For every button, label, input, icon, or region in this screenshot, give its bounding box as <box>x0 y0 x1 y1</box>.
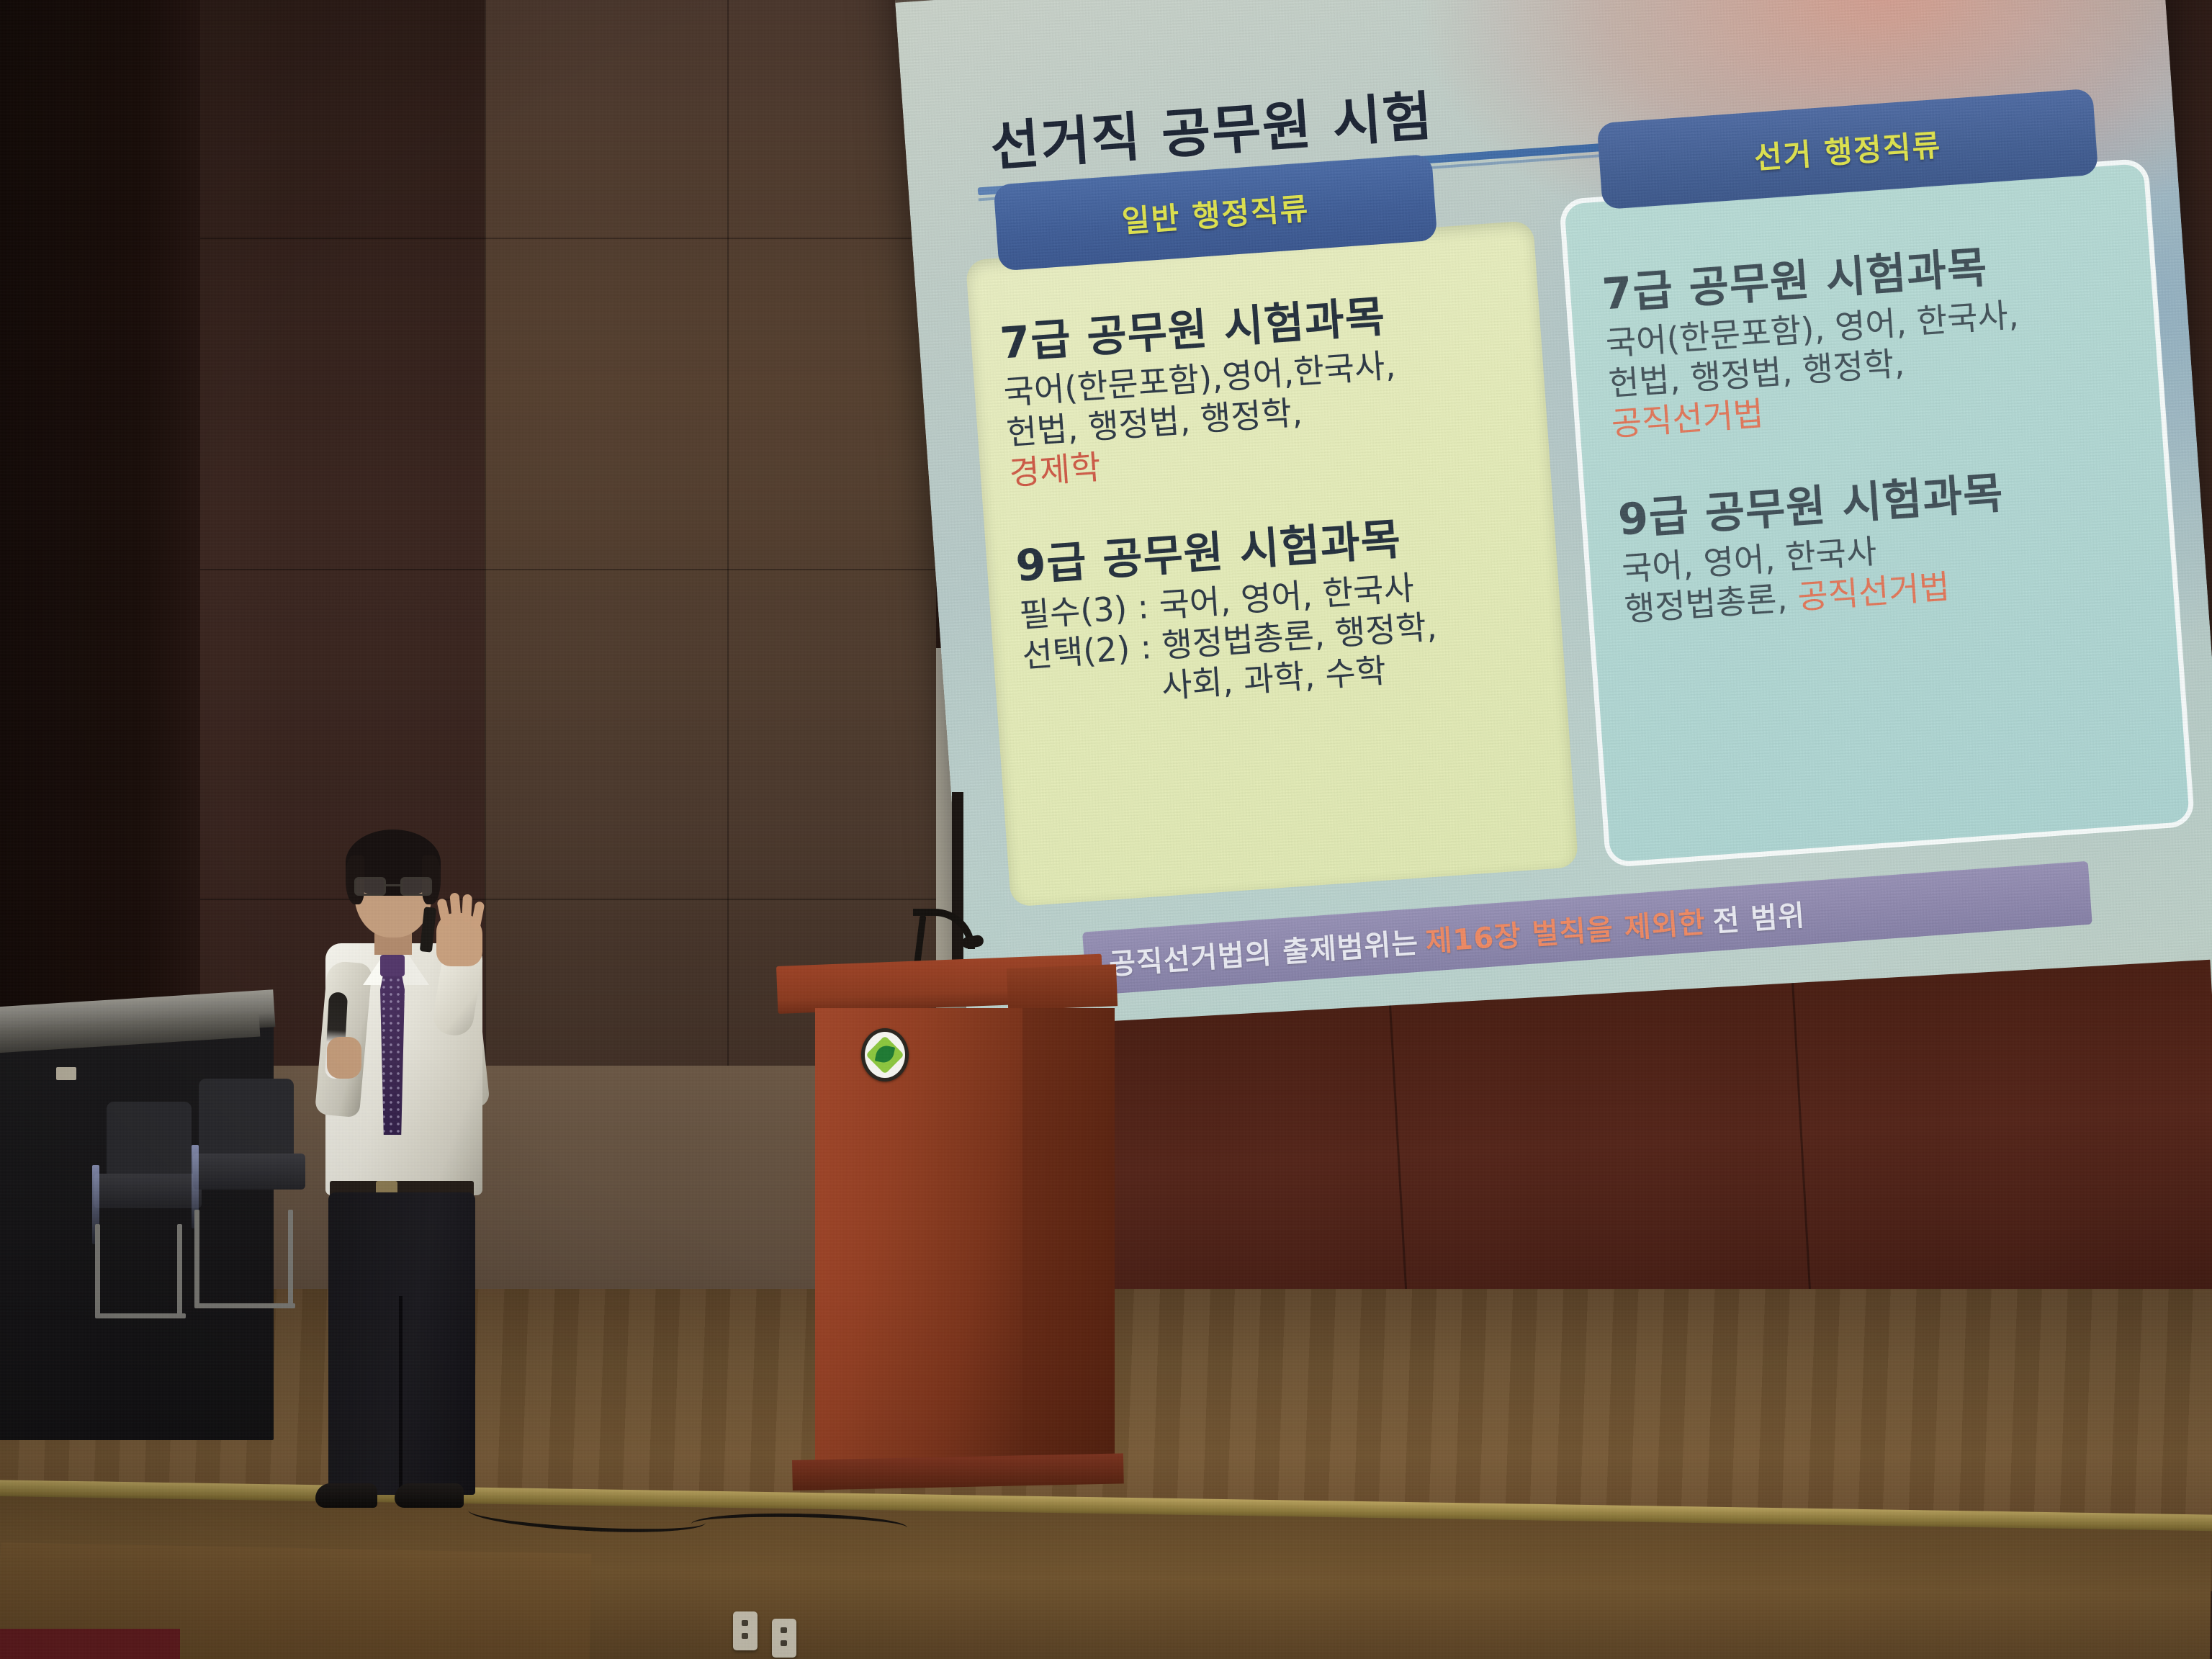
presenter-figure <box>288 821 526 1527</box>
podium-front-face <box>815 1008 1022 1469</box>
presenter-leg-seam <box>399 1296 403 1499</box>
glasses-icon <box>354 877 435 896</box>
podium-emblem-icon <box>861 1028 909 1082</box>
card-body-right: 7급 공무원 시험과목 국어(한문포함), 영어, 한국사, 헌법, 행정법, … <box>1564 163 2173 631</box>
presenter-finger <box>470 901 485 930</box>
chair-leg <box>177 1224 182 1318</box>
block-grade9-left: 9급 공무원 시험과목 필수(3) : 국어, 영어, 한국사 선택(2) : … <box>1015 505 1565 716</box>
chair-leg <box>95 1224 100 1318</box>
screen-support-post <box>952 792 963 979</box>
card-general-administration: 7급 공무원 시험과목 국어(한문포함),영어,한국사, 헌법, 행정법, 행정… <box>966 220 1579 907</box>
wall-panel-dark-left <box>0 0 200 1152</box>
desk-label-card <box>56 1067 76 1080</box>
banner-lead: 공직선거법의 출제범위는 <box>1107 920 1420 983</box>
wall-seam <box>200 569 963 570</box>
power-outlet <box>772 1619 796 1658</box>
chair-leg-base <box>95 1313 186 1318</box>
podium-top-right <box>1007 964 1118 1010</box>
presenter-necktie-knot <box>380 955 405 976</box>
chair-leg <box>194 1210 199 1308</box>
lecture-hall-scene: 선거직 공무원 시험 7급 공무원 시험과목 국어(한문포함),영어,한국사, … <box>0 0 2212 1659</box>
presenter-necktie-pattern <box>380 962 405 1135</box>
chair-leg-base <box>194 1303 295 1308</box>
glasses-lens-right <box>400 877 432 896</box>
presenter-shoe-left <box>315 1483 377 1508</box>
wall-seam <box>727 0 729 1080</box>
glasses-bridge <box>386 884 400 886</box>
chair-seat <box>94 1174 202 1208</box>
card-election-administration: 7급 공무원 시험과목 국어(한문포함), 영어, 한국사, 헌법, 행정법, … <box>1559 158 2195 868</box>
tab-label-right: 선거 행정직류 <box>1753 120 1943 177</box>
red-carpet-strip <box>0 1629 180 1659</box>
wall-seam <box>200 238 963 239</box>
side-desk <box>0 1008 274 1440</box>
power-outlet <box>733 1611 757 1650</box>
glasses-lens-left <box>354 877 386 896</box>
presenter-finger <box>462 894 472 922</box>
presenter-finger <box>449 893 461 921</box>
banner-trail: 전 범위 <box>1712 892 1807 940</box>
banner-emphasis: 제16장 벌칙을 제외한 <box>1424 899 1707 961</box>
presenter-shoe-right <box>395 1483 464 1508</box>
tab-label-left: 일반 행정직류 <box>1120 184 1310 241</box>
projection-screen: 선거직 공무원 시험 7급 공무원 시험과목 국어(한문포함),영어,한국사, … <box>891 0 2212 1109</box>
slide: 선거직 공무원 시험 7급 공무원 시험과목 국어(한문포함),영어,한국사, … <box>896 0 2212 1100</box>
presenter-right-hand <box>327 1037 361 1079</box>
podium-side-face <box>1022 1008 1115 1460</box>
wall-panel-center <box>485 0 960 1120</box>
card-body-left: 7급 공무원 시험과목 국어(한문포함),영어,한국사, 헌법, 행정법, 행정… <box>966 220 1565 718</box>
